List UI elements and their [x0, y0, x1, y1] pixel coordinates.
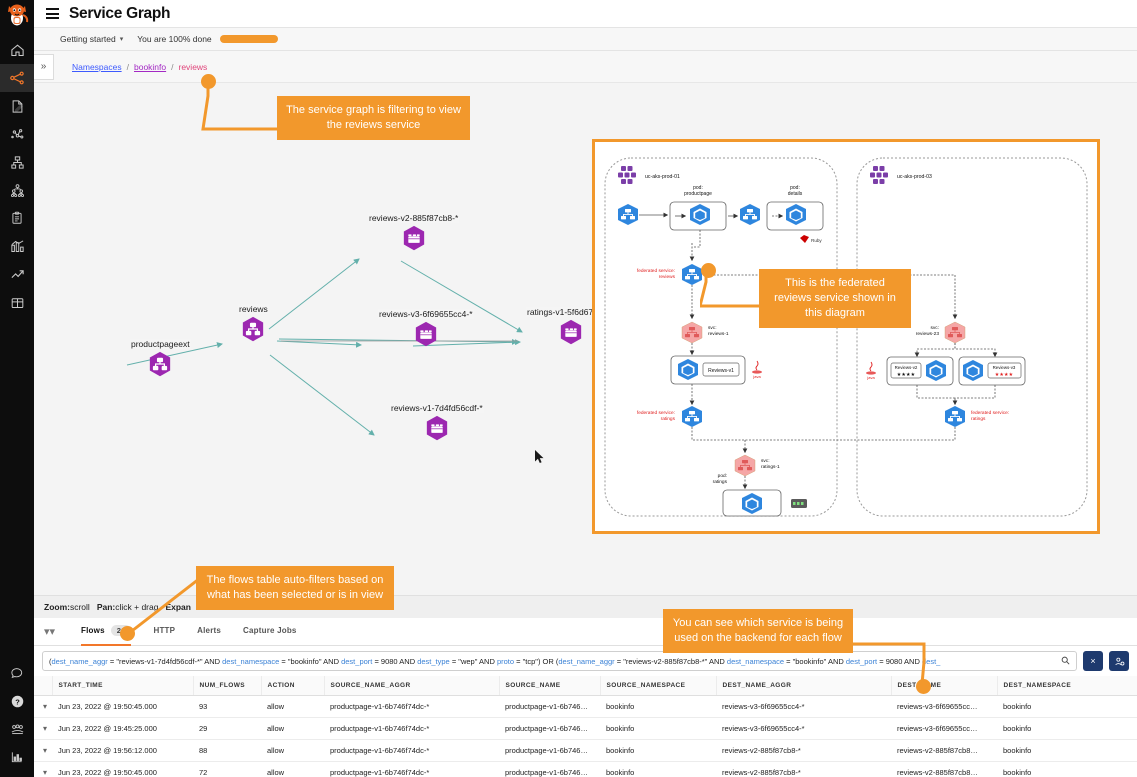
sidebar-item-nodes[interactable] [0, 120, 34, 148]
k8s-service-icon [618, 204, 638, 225]
cell-dest-namespace: bookinfo [997, 740, 1137, 762]
table-header-dest-namespace[interactable]: DEST_NAMESPACE [997, 676, 1137, 696]
sidebar-item-compliance[interactable] [0, 204, 34, 232]
replica-set-icon [401, 225, 427, 251]
cell-dest-namespace: bookinfo [997, 762, 1137, 777]
ruby-tech-icon: Ruby [800, 235, 822, 243]
federated-service-ratings-right-icon [945, 406, 965, 427]
svg-text:reviews-1: reviews-1 [708, 331, 729, 337]
breadcrumb-separator: / [127, 62, 129, 72]
mouse-cursor-icon [534, 449, 545, 464]
table-header-num-flows[interactable]: NUM_FLOWS [193, 676, 261, 696]
cell-action: allow [261, 740, 324, 762]
federated-service-ratings-left-icon [682, 406, 702, 427]
graph-node-label: reviews-v2-885f87cb8-* [368, 213, 459, 223]
callout-federated: This is the federated reviews service sh… [759, 269, 911, 328]
breadcrumb-item-bookinfo[interactable]: bookinfo [134, 62, 166, 72]
table-header-row: START_TIME NUM_FLOWS ACTION SOURCE_NAME_… [34, 676, 1137, 696]
breadcrumb-item-namespaces[interactable]: Namespaces [72, 62, 122, 72]
table-row[interactable]: ▾ Jun 23, 2022 @ 19:56:12.000 88 allow p… [34, 740, 1137, 762]
svg-text:uc-aks-prod-01: uc-aks-prod-01 [645, 174, 680, 180]
sidebar-item-policies[interactable] [0, 92, 34, 120]
sidebar-item-dashboards[interactable] [0, 232, 34, 260]
progress-text: You are 100% done [137, 34, 211, 44]
chevron-down-icon: ▾ [120, 35, 124, 43]
java-tech-icon: java [752, 361, 762, 379]
svg-text:federated service:: federated service: [637, 410, 675, 416]
sidebar-item-support-chat[interactable] [0, 659, 34, 687]
svg-text:federated service:: federated service: [637, 268, 675, 274]
cell-source-name: productpage-v1-6b746… [499, 696, 600, 718]
page-title: Service Graph [69, 5, 170, 23]
graph-node-reviews[interactable]: reviews [238, 304, 269, 342]
svc-reviews-23-icon [945, 322, 965, 343]
query-row: (dest_name_aggr = "reviews-v1-7d4fd56cdf… [34, 646, 1137, 676]
cell-dest-namespace: bookinfo [997, 718, 1137, 740]
architecture-diagram: uc-aks-prod-01 uc-aks-prod-03 [595, 142, 1097, 531]
replica-set-icon [558, 319, 584, 345]
sidebar-item-home[interactable] [0, 36, 34, 64]
cell-dest-name-aggr: reviews-v3-6f69655cc4-* [716, 718, 891, 740]
svc-ratings-1-icon [735, 455, 755, 476]
clear-search-button[interactable]: × [1083, 651, 1103, 671]
svg-text:productpage: productpage [684, 191, 712, 197]
progress-bar [220, 35, 278, 43]
svg-text:Reviews-v2: Reviews-v2 [895, 365, 918, 370]
cell-action: allow [261, 696, 324, 718]
tigera-tiger-logo[interactable] [0, 0, 34, 28]
cell-action: allow [261, 718, 324, 740]
sidebar-item-metrics[interactable] [0, 743, 34, 771]
cell-source-name-aggr: productpage-v1-6b746f74dc-* [324, 740, 499, 762]
table-row[interactable]: ▾ Jun 23, 2022 @ 19:50:45.000 93 allow p… [34, 696, 1137, 718]
cell-dest-name-aggr: reviews-v3-6f69655cc4-* [716, 696, 891, 718]
callout-anchor-backend [916, 679, 931, 694]
cell-num-flows: 29 [193, 718, 261, 740]
architecture-diagram-panel: uc-aks-prod-01 uc-aks-prod-03 [592, 139, 1100, 534]
callout-autofilter: The flows table auto-filters based on wh… [196, 566, 394, 610]
sidebar-item-trends[interactable] [0, 260, 34, 288]
hint-zoom-value: scroll [70, 602, 90, 612]
magnifier-icon[interactable] [1061, 656, 1070, 667]
cell-num-flows: 72 [193, 762, 261, 777]
nav-bottom-items: ? [0, 659, 34, 771]
hint-zoom-key: Zoom: [44, 602, 70, 612]
top-bar: Service Graph [34, 0, 1137, 28]
sidebar-item-service-graph[interactable] [0, 64, 34, 92]
callout-leader-backend [846, 622, 956, 692]
close-icon: × [1090, 656, 1095, 666]
graph-node-label: productpageext [130, 339, 191, 349]
onboarding-progress: You are 100% done [137, 34, 277, 44]
graph-node-reviews-v1[interactable]: reviews-v1-7d4fd56cdf-* [390, 403, 484, 441]
chevron-double-down-icon[interactable]: ▾▾ [44, 625, 55, 638]
table-row[interactable]: ▾ Jun 23, 2022 @ 19:50:45.000 72 allow p… [34, 762, 1137, 777]
graph-node-label: reviews [238, 304, 269, 314]
hint-zoom: Zoom:scroll [44, 602, 90, 612]
svg-text:reviews-23: reviews-23 [916, 331, 940, 337]
svg-text:ratings: ratings [713, 479, 728, 485]
left-nav-rail: ? [0, 0, 34, 777]
cell-num-flows: 88 [193, 740, 261, 762]
table-row[interactable]: ▾ Jun 23, 2022 @ 19:45:25.000 29 allow p… [34, 718, 1137, 740]
cell-source-name-aggr: productpage-v1-6b746f74dc-* [324, 762, 499, 777]
cell-source-namespace: bookinfo [600, 740, 716, 762]
cell-dest-name-aggr: reviews-v2-885f87cb8-* [716, 740, 891, 762]
svg-text:federated service:: federated service: [971, 410, 1009, 416]
svg-text:Reviews-v3: Reviews-v3 [993, 365, 1016, 370]
k8s-service-icon [740, 204, 760, 225]
svg-text:★★★★: ★★★★ [995, 372, 1014, 378]
svg-text:uc-aks-prod-03: uc-aks-prod-03 [897, 174, 932, 180]
table-header-start-time[interactable]: START_TIME [52, 676, 193, 696]
replica-set-icon [413, 321, 439, 347]
hamburger-icon[interactable] [46, 8, 59, 19]
cell-source-namespace: bookinfo [600, 696, 716, 718]
callout-anchor-autofilter [120, 626, 135, 641]
cell-dest-name: reviews-v2-885f87cb8… [891, 762, 997, 777]
table-header-source-name-aggr[interactable]: SOURCE_NAME_AGGR [324, 676, 499, 696]
row-expand-chevron-down-icon[interactable]: ▾ [34, 718, 52, 740]
svg-text:svc:: svc: [708, 326, 717, 331]
svg-text:svc:: svc: [930, 326, 939, 331]
cell-dest-name: reviews-v3-6f69655cc… [891, 696, 997, 718]
hint-pan-key: Pan: [97, 602, 115, 612]
svg-text:reviews: reviews [659, 274, 676, 280]
row-expand-chevron-down-icon[interactable]: ▾ [34, 740, 52, 762]
sidebar-item-users[interactable] [0, 715, 34, 743]
tab-flows-label: Flows [81, 626, 105, 635]
row-expand-chevron-down-icon[interactable]: ▾ [34, 762, 52, 777]
svg-text:ratings: ratings [971, 416, 986, 422]
svc-reviews-1-icon [682, 322, 702, 343]
svg-text:pod:: pod: [718, 473, 727, 479]
cell-source-namespace: bookinfo [600, 718, 716, 740]
table-header-action[interactable]: ACTION [261, 676, 324, 696]
nav-items [0, 36, 34, 316]
row-expand-chevron-down-icon[interactable]: ▾ [34, 696, 52, 718]
flows-table: START_TIME NUM_FLOWS ACTION SOURCE_NAME_… [34, 676, 1137, 777]
tab-capture-jobs[interactable]: Capture Jobs [243, 618, 297, 646]
cell-start-time: Jun 23, 2022 @ 19:56:12.000 [52, 740, 193, 762]
table-header-expand [34, 676, 52, 696]
service-graph-app: ? Service Graph Getting started ▾ You ar… [0, 0, 1137, 777]
svg-text:java: java [752, 374, 761, 379]
java-tech-icon: java [866, 362, 876, 380]
graph-node-reviews-v3[interactable]: reviews-v3-6f69655cc4-* [378, 309, 474, 347]
graph-node-reviews-v2[interactable]: reviews-v2-885f87cb8-* [368, 213, 459, 251]
federated-service-reviews-icon [682, 264, 702, 285]
svg-text:ratings-1: ratings-1 [761, 464, 780, 470]
svg-text:details: details [788, 191, 803, 197]
graph-node-label: reviews-v3-6f69655cc4-* [378, 309, 474, 319]
cell-source-name-aggr: productpage-v1-6b746f74dc-* [324, 718, 499, 740]
cell-start-time: Jun 23, 2022 @ 19:50:45.000 [52, 762, 193, 777]
cell-dest-name-aggr: reviews-v2-885f87cb8-* [716, 762, 891, 777]
flows-table-wrap[interactable]: START_TIME NUM_FLOWS ACTION SOURCE_NAME_… [34, 676, 1137, 777]
callout-backend: You can see which service is being used … [663, 609, 853, 653]
cluster-nodes-icon [618, 166, 636, 184]
cell-start-time: Jun 23, 2022 @ 19:45:25.000 [52, 718, 193, 740]
cell-dest-name: reviews-v2-885f87cb8… [891, 740, 997, 762]
sidebar-item-endpoints[interactable] [0, 148, 34, 176]
svg-text:java: java [866, 375, 875, 380]
callout-anchor-filtering [201, 74, 216, 89]
graph-node-label: reviews-v1-7d4fd56cdf-* [390, 403, 484, 413]
cell-source-name: productpage-v1-6b746… [499, 718, 600, 740]
cell-source-namespace: bookinfo [600, 762, 716, 777]
table-header-source-namespace[interactable]: SOURCE_NAMESPACE [600, 676, 716, 696]
tab-capture-jobs-label: Capture Jobs [243, 626, 297, 635]
sidebar-item-network-sets[interactable] [0, 176, 34, 204]
database-icon [791, 499, 807, 508]
cell-dest-name: reviews-v3-6f69655cc… [891, 718, 997, 740]
cell-num-flows: 93 [193, 696, 261, 718]
cell-start-time: Jun 23, 2022 @ 19:50:45.000 [52, 696, 193, 718]
svg-text:?: ? [15, 697, 20, 706]
svg-text:★★★★: ★★★★ [897, 372, 916, 378]
breadcrumb: Namespaces / bookinfo / reviews [72, 62, 207, 72]
cell-dest-namespace: bookinfo [997, 696, 1137, 718]
cell-source-name-aggr: productpage-v1-6b746f74dc-* [324, 696, 499, 718]
svg-text:ratings: ratings [661, 416, 676, 422]
getting-started-label: Getting started [60, 34, 116, 44]
cell-source-name: productpage-v1-6b746… [499, 740, 600, 762]
service-graph-canvas[interactable]: productpageext reviews [34, 83, 1137, 595]
table-header-source-name[interactable]: SOURCE_NAME [499, 676, 600, 696]
cell-source-name: productpage-v1-6b746… [499, 762, 600, 777]
svg-text:Ruby: Ruby [811, 238, 822, 243]
flows-table-body: ▾ Jun 23, 2022 @ 19:50:45.000 93 allow p… [34, 696, 1137, 777]
sidebar-item-help[interactable]: ? [0, 687, 34, 715]
cell-action: allow [261, 762, 324, 777]
callout-anchor-federated [701, 263, 716, 278]
save-filter-button[interactable] [1109, 651, 1129, 671]
aggregated-service-icon [147, 351, 173, 377]
getting-started-dropdown[interactable]: Getting started ▾ [60, 34, 123, 44]
cluster-nodes-icon [870, 166, 888, 184]
replica-set-icon [424, 415, 450, 441]
svg-text:svc:: svc: [761, 459, 770, 464]
callout-filtering: The service graph is filtering to view t… [277, 96, 470, 140]
aggregated-service-icon [240, 316, 266, 342]
svg-text:Reviews-v1: Reviews-v1 [708, 368, 734, 374]
sidebar-item-archive[interactable] [0, 288, 34, 316]
breadcrumb-item-reviews: reviews [179, 62, 208, 72]
chevron-double-right-icon[interactable]: » [34, 54, 54, 80]
breadcrumb-separator: / [171, 62, 173, 72]
getting-started-bar: Getting started ▾ You are 100% done [34, 28, 1137, 51]
graph-node-productpageext[interactable]: productpageext [130, 339, 191, 377]
